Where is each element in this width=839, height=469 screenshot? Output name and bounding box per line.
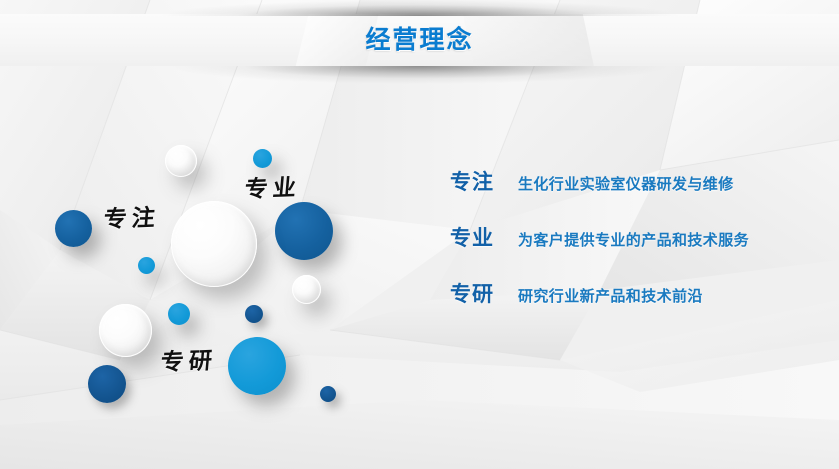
point-description: 生化行业实验室仪器研发与维修 (518, 173, 734, 194)
bubble-white-large (171, 201, 257, 287)
bubble-darkblue-left (55, 210, 92, 247)
point-item: 专业 为客户提供专业的产品和技术服务 (450, 222, 810, 278)
bubble-lightblue-top (253, 149, 272, 168)
bubble-darkblue-large-right (275, 202, 333, 260)
brush-label-zhuanyan: 专研 (159, 341, 218, 377)
bubble-navy-dot-center (245, 305, 263, 323)
bubble-lightblue-mid-small (138, 257, 155, 274)
point-key: 专业 (450, 222, 518, 252)
page-title: 经营理念 (0, 20, 839, 56)
bubble-white-right-small (292, 275, 321, 304)
point-description: 研究行业新产品和技术前沿 (518, 285, 703, 306)
slide-canvas: 经营理念 专注 专业 专研 专注 生化行业实验室仪器研发与维修 专业 为客户提供… (0, 0, 839, 469)
brush-label-zhuanzhu: 专注 (102, 198, 161, 234)
point-description: 为客户提供专业的产品和技术服务 (518, 229, 749, 250)
bubble-navy-bottom-left (88, 365, 126, 403)
point-item: 专注 生化行业实验室仪器研发与维修 (450, 166, 810, 222)
philosophy-points-list: 专注 生化行业实验室仪器研发与维修 专业 为客户提供专业的产品和技术服务 专研 … (450, 166, 810, 334)
bubble-lightblue-mid (168, 303, 190, 325)
bubble-white-lower-left (99, 304, 152, 357)
bubble-navy-dot-bottom (320, 386, 336, 402)
bubble-white-small-top (165, 145, 197, 177)
point-item: 专研 研究行业新产品和技术前沿 (450, 278, 810, 334)
point-key: 专研 (450, 278, 518, 308)
point-key: 专注 (450, 166, 518, 196)
bubble-lightblue-large-bottom (228, 337, 286, 395)
brush-label-zhuanye: 专业 (243, 168, 302, 204)
